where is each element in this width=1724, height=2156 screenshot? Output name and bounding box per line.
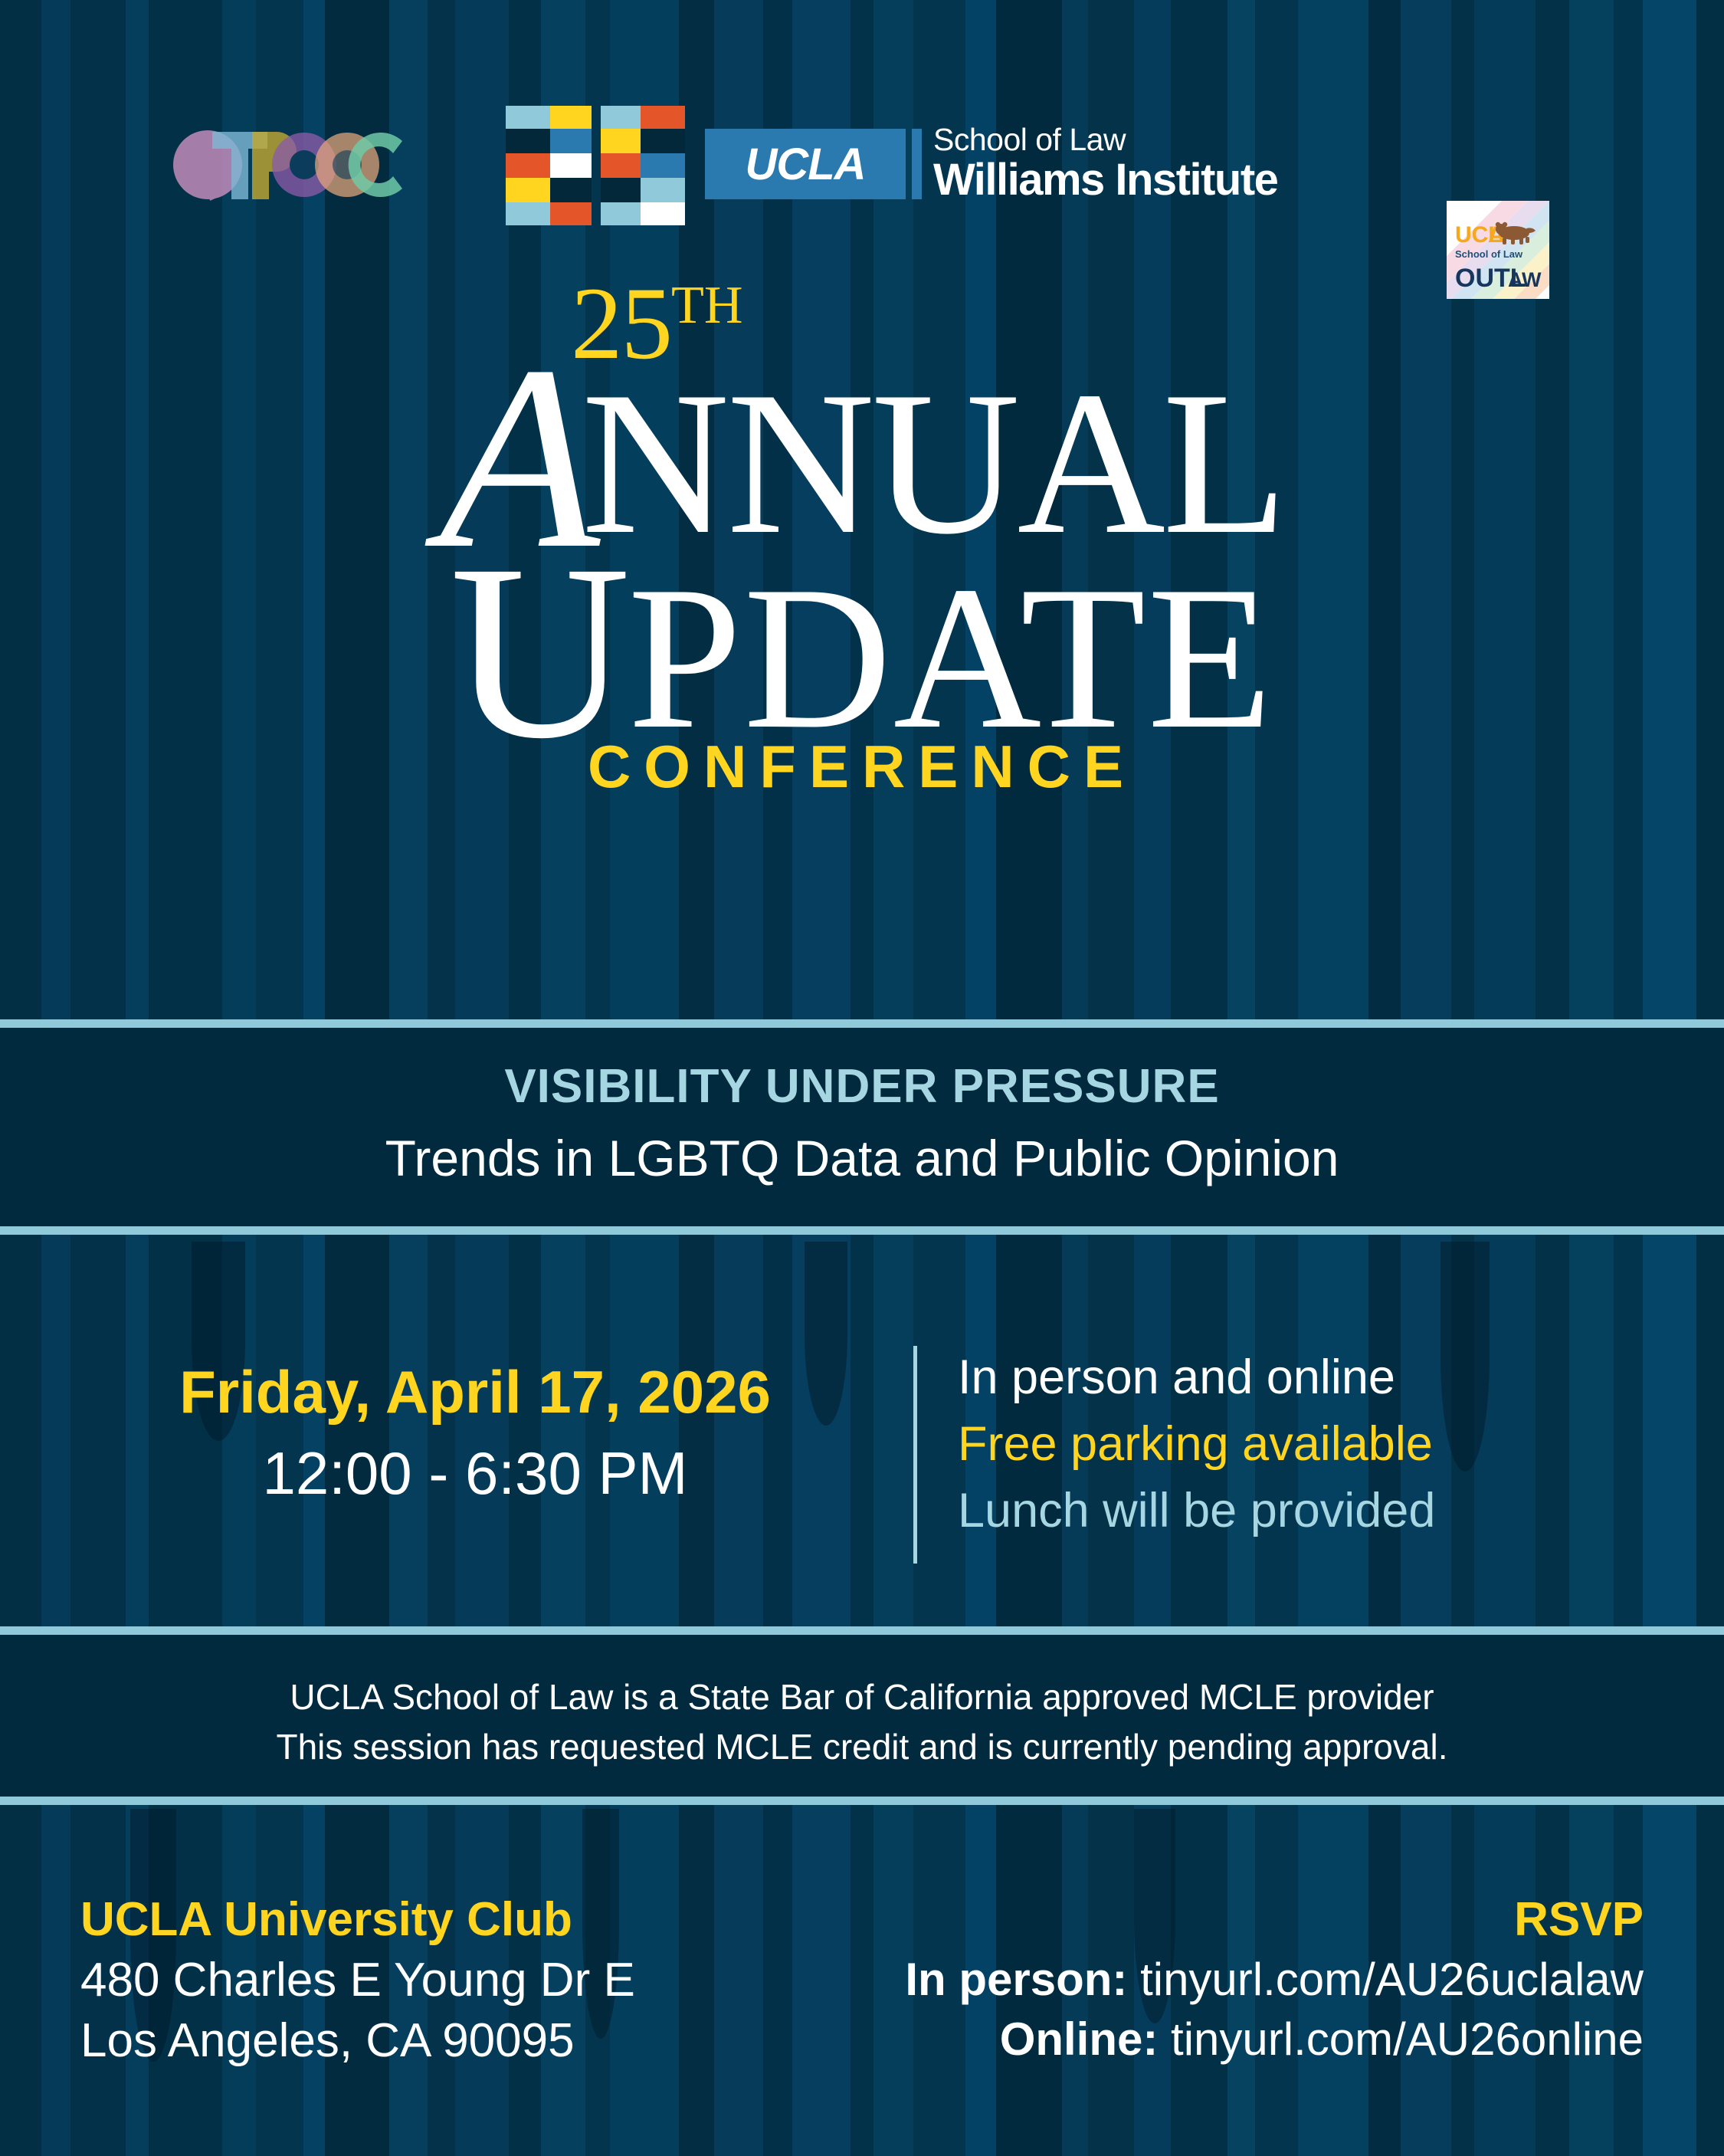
rsvp-online-url[interactable]: tinyurl.com/AU26online [1171, 2013, 1644, 2065]
rsvp-block: RSVP In person: tinyurl.com/AU26uclalaw … [905, 1890, 1644, 2069]
event-parking: Free parking available [958, 1411, 1594, 1478]
svg-text:AW: AW [1508, 268, 1542, 291]
venue-block: UCLA University Club 480 Charles E Young… [80, 1890, 635, 2071]
theme-headline: VISIBILITY UNDER PRESSURE [0, 1061, 1724, 1113]
mcle-line-1: UCLA School of Law is a State Bar of Cal… [0, 1672, 1724, 1722]
event-lunch: Lunch will be provided [958, 1478, 1594, 1544]
mcle-notice: UCLA School of Law is a State Bar of Cal… [0, 1672, 1724, 1773]
rsvp-label: RSVP [905, 1890, 1644, 1950]
venue-city: Los Angeles, CA 90095 [80, 2010, 635, 2071]
event-logistics-block: In person and online Free parking availa… [958, 1344, 1594, 1544]
title-line-update: UPDATE [0, 523, 1724, 762]
williams-institute-text: School of Law Williams Institute [933, 123, 1277, 204]
sponsor-logo-row: UCLA School of Law Williams Institute [0, 92, 1724, 230]
25-anniversary-logo [506, 106, 687, 228]
williams-institute-label: Williams Institute [933, 157, 1277, 204]
rsvp-inperson-label: In person: [905, 1954, 1127, 2005]
rsvp-online-label: Online: [1000, 2013, 1159, 2065]
ucla-wordmark: UCLA [745, 139, 865, 190]
event-datetime-block: Friday, April 17, 2026 12:00 - 6:30 PM [107, 1357, 843, 1511]
title-line-conference: CONFERENCE [0, 732, 1724, 802]
event-format: In person and online [958, 1344, 1594, 1411]
event-time: 12:00 - 6:30 PM [107, 1436, 843, 1511]
details-vertical-divider [913, 1346, 917, 1564]
rsvp-inperson-line[interactable]: In person: tinyurl.com/AU26uclalaw [905, 1950, 1644, 2010]
rsvp-inperson-url[interactable]: tinyurl.com/AU26uclalaw [1140, 1954, 1644, 2005]
venue-street: 480 Charles E Young Dr E [80, 1950, 635, 2010]
venue-name: UCLA University Club [80, 1890, 635, 1950]
rsvp-online-line[interactable]: Online: tinyurl.com/AU26online [905, 2010, 1644, 2069]
event-date: Friday, April 17, 2026 [107, 1357, 843, 1429]
qtpocc-logo [172, 123, 410, 207]
ucla-logo-box: UCLA [705, 129, 906, 199]
event-details-section: Friday, April 17, 2026 12:00 - 6:30 PM I… [0, 1357, 1724, 1579]
conference-poster: UCLA School of Law Williams Institute [0, 0, 1724, 2156]
school-of-law-label: School of Law [933, 123, 1277, 157]
theme-subtitle: Trends in LGBTQ Data and Public Opinion [0, 1130, 1724, 1188]
theme-section: VISIBILITY UNDER PRESSURE Trends in LGBT… [0, 1061, 1724, 1188]
mcle-line-2: This session has requested MCLE credit a… [0, 1722, 1724, 1772]
williams-institute-bar [912, 129, 922, 199]
ucla-outlaw-logo: UCL A School of Law [1447, 201, 1549, 299]
svg-text:School of Law: School of Law [1455, 248, 1523, 260]
footer-section: UCLA University Club 480 Charles E Young… [0, 1890, 1724, 2143]
